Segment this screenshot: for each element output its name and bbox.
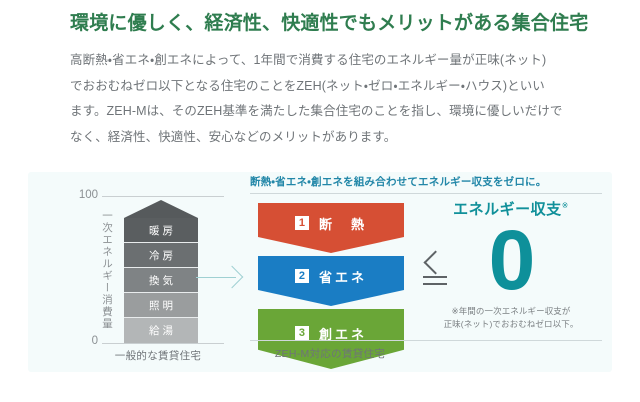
step-number-badge: 2 — [295, 269, 309, 283]
stack-segment-ventilation: 換気 — [124, 268, 198, 293]
chart-caption: 一般的な賃貸住宅 — [88, 348, 228, 363]
less-than-or-equal-icon — [422, 254, 448, 288]
intro-paragraph: 高断熱・省エネ・創エネによって、1年間で消費する住宅のエネルギー量が正味(ネット… — [70, 48, 586, 151]
steps-banner-divider — [250, 193, 602, 194]
arrow-head — [221, 266, 244, 289]
stack-segment-heating: 暖房 — [124, 218, 198, 243]
steps-caption: ZEH-M対応の賃貸住宅 — [250, 346, 410, 361]
axis-gridline-top — [102, 196, 224, 197]
intro-line-3: ます。ZEH-Mは、そのZEH基準を満たした集合住宅のことを指し、環境に優しいだ… — [70, 99, 586, 125]
intro-line-4: なく、経済性、快適性、安心などのメリットがあります。 — [70, 125, 586, 151]
steps-banner-text: 断熱・省エネ・創エネを組み合わせてエネルギー収支をゼロに。 — [250, 174, 415, 193]
step-number-badge: 1 — [295, 216, 309, 230]
page-title: 環境に優しく、経済性、快適性でもメリットがある集合住宅 — [70, 12, 590, 36]
stack-segment-lighting: 照明 — [124, 293, 198, 318]
steps-bottom-divider — [250, 340, 602, 341]
step-chevron-energy-saving: 2 省エネ — [258, 256, 404, 306]
step-chevron-insulation: 1 断 熱 — [258, 203, 404, 253]
footnote-mark: ※ — [562, 201, 569, 210]
steps-column: 断熱・省エネ・創エネを組み合わせてエネルギー収支をゼロに。 1 断 熱 2 省エ… — [250, 174, 415, 372]
step-number-badge: 3 — [295, 326, 309, 340]
infographic-panel: 100 0 一次エネルギー消費量 暖房 冷房 換気 照明 給湯 一般的な賃貸住宅… — [28, 172, 612, 372]
stack-segment-hotwater: 給湯 — [124, 318, 198, 343]
house-roof-icon — [124, 200, 198, 218]
note-line-2: 正味(ネット)でおおむねゼロ以下。 — [420, 318, 602, 331]
intro-line-2: でおおむねゼロ以下となる住宅のことをZEH(ネット・ゼロ・エネルギー・ハウス)と… — [70, 74, 586, 100]
axis-min-label: 0 — [68, 335, 98, 347]
leq-chevron — [423, 250, 447, 274]
stack-segment-cooling: 冷房 — [124, 243, 198, 268]
arrow-right-icon — [196, 266, 244, 288]
intro-line-1: 高断熱・省エネ・創エネによって、1年間で消費する住宅のエネルギー量が正味(ネット… — [70, 48, 586, 74]
axis-max-label: 100 — [68, 189, 98, 201]
step-label: 断 熱 — [316, 214, 367, 233]
energy-balance-result: エネルギー収支※ 0 ※年間の一次エネルギー収支が 正味(ネット)でおおむねゼロ… — [420, 198, 602, 331]
house-stack: 暖房 冷房 換気 照明 給湯 — [124, 200, 198, 343]
note-line-1: ※年間の一次エネルギー収支が — [420, 305, 602, 318]
axis-gridline-bottom — [102, 343, 224, 344]
step-label: 省エネ — [316, 267, 367, 286]
axis-title-label: 一次エネルギー消費量 — [96, 210, 112, 330]
leq-bar-lower — [423, 283, 447, 285]
energy-balance-note: ※年間の一次エネルギー収支が 正味(ネット)でおおむねゼロ以下。 — [420, 305, 602, 331]
leq-bar-upper — [423, 276, 447, 278]
